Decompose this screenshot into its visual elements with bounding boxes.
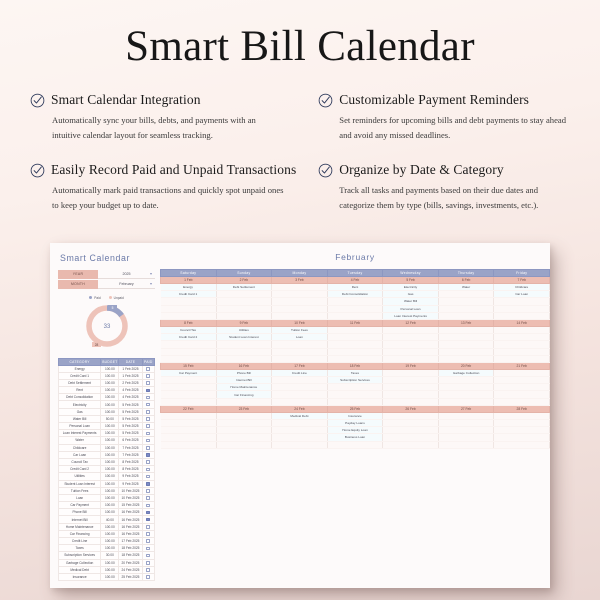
calendar-empty-cell[interactable]	[272, 384, 328, 391]
calendar-empty-cell[interactable]	[383, 420, 439, 427]
table-row[interactable]: Debt Settlement100.002 Feb 2025	[59, 379, 155, 386]
calendar-empty-cell[interactable]	[383, 326, 439, 333]
cell-date: 4 Feb 2025	[119, 387, 142, 394]
donut-legend: Paid Unpaid	[58, 296, 155, 300]
calendar-event-cell[interactable]: Garbage Collection	[438, 369, 494, 376]
checkbox-unchecked-icon[interactable]	[146, 410, 150, 414]
calendar-empty-cell[interactable]	[438, 298, 494, 305]
cell-paid[interactable]	[142, 451, 155, 458]
calendar-empty-cell[interactable]	[161, 420, 217, 427]
checkbox-unchecked-icon[interactable]	[146, 417, 150, 421]
calendar-date-cell[interactable]: 12 Feb	[383, 319, 439, 326]
calendar-empty-cell[interactable]	[272, 348, 328, 355]
calendar-date-cell[interactable]: 4 Feb	[327, 277, 383, 284]
calendar-empty-cell[interactable]	[494, 384, 550, 391]
calendar-date-cell[interactable]: 22 Feb	[161, 405, 217, 412]
cell-paid[interactable]	[142, 365, 155, 372]
calendar-empty-cell[interactable]	[161, 298, 217, 305]
calendar-empty-cell[interactable]	[383, 434, 439, 441]
cell-paid[interactable]	[142, 516, 155, 523]
calendar-empty-cell[interactable]	[327, 398, 383, 405]
table-row[interactable]: Car Payment100.0015 Feb 2025	[59, 502, 155, 509]
calendar-empty-cell[interactable]	[383, 427, 439, 434]
calendar-empty-cell[interactable]	[272, 305, 328, 312]
column-header-category[interactable]: CATEGORY	[59, 358, 101, 365]
calendar-event-cell[interactable]: Car Financing	[216, 391, 272, 398]
calendar-date-cell[interactable]: 11 Feb	[327, 319, 383, 326]
cell-paid[interactable]	[142, 473, 155, 480]
calendar-empty-cell[interactable]	[494, 341, 550, 348]
cell-paid[interactable]	[142, 494, 155, 501]
cell-paid[interactable]	[142, 458, 155, 465]
month-selector-value[interactable]: February	[98, 280, 155, 289]
cell-paid[interactable]	[142, 545, 155, 552]
year-selector-label: YEAR	[58, 270, 98, 279]
checkbox-unchecked-icon[interactable]	[146, 381, 150, 385]
calendar-empty-cell[interactable]	[383, 441, 439, 448]
table-row[interactable]: Car Loan100.007 Feb 2025	[59, 451, 155, 458]
cell-paid[interactable]	[142, 437, 155, 444]
calendar-date-cell[interactable]: 26 Feb	[383, 405, 439, 412]
table-row[interactable]: Debt Consolidation100.004 Feb 2025	[59, 394, 155, 401]
calendar-empty-cell[interactable]	[494, 348, 550, 355]
calendar-empty-cell[interactable]	[272, 398, 328, 405]
cell-paid[interactable]	[142, 444, 155, 451]
table-row[interactable]: Internet Bill40.0016 Feb 2025	[59, 516, 155, 523]
calendar-date-cell[interactable]: 7 Feb	[494, 277, 550, 284]
calendar-empty-cell[interactable]	[327, 441, 383, 448]
cell-paid[interactable]	[142, 502, 155, 509]
checkbox-checked-icon[interactable]	[146, 511, 150, 515]
cell-paid[interactable]	[142, 552, 155, 559]
checkbox-checked-icon[interactable]	[146, 453, 150, 457]
calendar-empty-cell[interactable]	[216, 434, 272, 441]
checkbox-unchecked-icon[interactable]	[146, 489, 150, 493]
calendar-empty-cell[interactable]	[494, 377, 550, 384]
calendar-event-cell[interactable]: Childcare	[494, 284, 550, 291]
checkbox-unchecked-icon[interactable]	[146, 439, 150, 443]
calendar-empty-cell[interactable]	[494, 334, 550, 341]
feature-item-customizable-payment-reminders: Customizable Payment Reminders Set remin…	[318, 92, 570, 143]
calendar-empty-cell[interactable]	[327, 312, 383, 319]
calendar-event-cell[interactable]: Council Tax	[161, 326, 217, 333]
calendar-event-cell[interactable]: Electricity	[383, 284, 439, 291]
legend-label-unpaid: Unpaid	[114, 296, 124, 300]
table-row[interactable]: Water Bill50.005 Feb 2025	[59, 415, 155, 422]
table-row[interactable]: Tuition Fees100.0010 Feb 2025	[59, 487, 155, 494]
calendar-date-cell[interactable]: 21 Feb	[494, 362, 550, 369]
calendar-event-cell[interactable]: Water	[438, 284, 494, 291]
checkbox-unchecked-icon[interactable]	[146, 475, 150, 479]
checkbox-unchecked-icon[interactable]	[146, 547, 150, 551]
cell-paid[interactable]	[142, 487, 155, 494]
cell-date: 5 Feb 2025	[119, 415, 142, 422]
cell-category: Tuition Fees	[59, 487, 101, 494]
calendar-event-cell[interactable]: Home Maintenance	[216, 384, 272, 391]
calendar-empty-cell[interactable]	[438, 355, 494, 362]
calendar-empty-cell[interactable]	[161, 391, 217, 398]
calendar-empty-cell[interactable]	[438, 334, 494, 341]
checkbox-unchecked-icon[interactable]	[146, 367, 150, 371]
calendar-empty-cell[interactable]	[161, 384, 217, 391]
table-row[interactable]: Home Maintenance100.0016 Feb 2025	[59, 523, 155, 530]
cell-budget: 100.00	[101, 538, 119, 545]
calendar-empty-cell[interactable]	[272, 341, 328, 348]
calendar-empty-cell[interactable]	[383, 391, 439, 398]
cell-budget: 100.00	[101, 430, 119, 437]
calendar-empty-cell[interactable]	[216, 427, 272, 434]
table-row[interactable]: Credit Line100.0017 Feb 2025	[59, 538, 155, 545]
calendar-empty-cell[interactable]	[327, 305, 383, 312]
feature-heading: Easily Record Paid and Unpaid Transactio…	[30, 162, 296, 178]
calendar-empty-cell[interactable]	[161, 377, 217, 384]
checkbox-unchecked-icon[interactable]	[146, 396, 150, 400]
calendar-empty-cell[interactable]	[161, 398, 217, 405]
cell-date: 4 Feb 2025	[119, 394, 142, 401]
calendar-empty-cell[interactable]	[216, 441, 272, 448]
calendar-empty-cell[interactable]	[438, 341, 494, 348]
checkbox-unchecked-icon[interactable]	[146, 496, 150, 500]
calendar-event-cell[interactable]: Internet Bill	[216, 377, 272, 384]
calendar-empty-cell[interactable]	[327, 384, 383, 391]
checkbox-unchecked-icon[interactable]	[146, 460, 150, 464]
calendar-empty-cell[interactable]	[438, 384, 494, 391]
calendar-empty-cell[interactable]	[216, 420, 272, 427]
calendar-date-cell[interactable]: 13 Feb	[438, 319, 494, 326]
calendar-empty-cell[interactable]	[494, 391, 550, 398]
calendar-empty-cell[interactable]	[383, 334, 439, 341]
calendar-empty-cell[interactable]	[161, 355, 217, 362]
calendar-event-cell[interactable]: Home Equity Loan	[327, 427, 383, 434]
calendar-empty-cell[interactable]	[494, 441, 550, 448]
calendar-date-cell[interactable]: 24 Feb	[272, 405, 328, 412]
calendar-empty-cell[interactable]	[272, 391, 328, 398]
calendar-header-row: Saturday Sunday Monday Tuesday Wednesday…	[161, 270, 550, 277]
table-row[interactable]: Loan100.0010 Feb 2025	[59, 494, 155, 501]
calendar-date-cell[interactable]: 27 Feb	[438, 405, 494, 412]
table-row[interactable]: Council Tax100.008 Feb 2025	[59, 458, 155, 465]
checkbox-unchecked-icon[interactable]	[146, 575, 150, 579]
calendar-date-cell[interactable]: 14 Feb	[494, 319, 550, 326]
calendar-date-cell[interactable]: 6 Feb	[438, 277, 494, 284]
calendar-date-cell[interactable]: 9 Feb	[216, 319, 272, 326]
calendar-date-cell[interactable]: 3 Feb	[272, 277, 328, 284]
calendar-empty-cell[interactable]	[494, 412, 550, 419]
calendar-event-cell[interactable]: Loan Interest Payments	[383, 312, 439, 319]
calendar-empty-cell[interactable]	[216, 398, 272, 405]
calendar-event-cell[interactable]: Energy	[161, 284, 217, 291]
calendar-empty-cell[interactable]	[272, 284, 328, 291]
calendar-date-cell[interactable]: 17 Feb	[272, 362, 328, 369]
calendar-empty-cell[interactable]	[383, 412, 439, 419]
cell-paid[interactable]	[142, 408, 155, 415]
table-row[interactable]: Insurance100.0025 Feb 2025	[59, 573, 155, 580]
table-row[interactable]: Phone Bill100.0016 Feb 2025	[59, 509, 155, 516]
calendar-empty-cell[interactable]	[494, 305, 550, 312]
cell-budget: 100.00	[101, 444, 119, 451]
feature-heading: Customizable Payment Reminders	[318, 92, 570, 108]
calendar-event-cell[interactable]: Tuition Fees	[272, 326, 328, 333]
calendar-empty-cell[interactable]	[161, 348, 217, 355]
table-row[interactable]: Garbage Collection100.0020 Feb 2025	[59, 559, 155, 566]
table-row[interactable]: Energy100.001 Feb 2025	[59, 365, 155, 372]
calendar-empty-cell[interactable]	[272, 427, 328, 434]
checkbox-unchecked-icon[interactable]	[146, 539, 150, 543]
calendar-event-row: Business Loan	[161, 434, 550, 441]
calendar-empty-cell[interactable]	[272, 291, 328, 298]
calendar-empty-cell[interactable]	[161, 341, 217, 348]
column-header-budget[interactable]: BUDGET	[101, 358, 119, 365]
calendar-empty-cell[interactable]	[161, 434, 217, 441]
table-row[interactable]: Credit Card 1100.001 Feb 2025	[59, 372, 155, 379]
cell-paid[interactable]	[142, 566, 155, 573]
calendar-event-cell[interactable]: Payday Loans	[327, 420, 383, 427]
column-header-paid[interactable]: PAID	[142, 358, 155, 365]
calendar-event-cell[interactable]: Gas	[383, 291, 439, 298]
calendar-empty-cell[interactable]	[438, 291, 494, 298]
calendar-empty-cell[interactable]	[161, 427, 217, 434]
cell-budget: 40.00	[101, 516, 119, 523]
calendar-empty-cell[interactable]	[438, 441, 494, 448]
cell-paid[interactable]	[142, 372, 155, 379]
table-row[interactable]: Water100.006 Feb 2025	[59, 437, 155, 444]
calendar-event-cell[interactable]: Phone Bill	[216, 369, 272, 376]
checkbox-unchecked-icon[interactable]	[146, 374, 150, 378]
calendar-empty-cell[interactable]	[272, 420, 328, 427]
calendar-event-cell[interactable]: Subscription Services	[327, 377, 383, 384]
calendar-empty-cell[interactable]	[438, 305, 494, 312]
cell-date: 20 Feb 2025	[119, 559, 142, 566]
feature-title: Customizable Payment Reminders	[339, 92, 529, 108]
calendar-date-cell[interactable]: 16 Feb	[216, 362, 272, 369]
calendar-empty-cell[interactable]	[327, 341, 383, 348]
calendar-date-cell[interactable]: 19 Feb	[383, 362, 439, 369]
checkbox-checked-icon[interactable]	[146, 482, 150, 486]
dashboard-sidebar: Smart Calendar YEAR 2025 MONTH February	[50, 243, 160, 588]
calendar-date-cell[interactable]: 5 Feb	[383, 277, 439, 284]
calendar-event-cell[interactable]: Loan	[272, 334, 328, 341]
spreadsheet-preview: Smart Calendar YEAR 2025 MONTH February	[50, 243, 550, 588]
calendar-date-cell[interactable]: 15 Feb	[161, 362, 217, 369]
checkbox-unchecked-icon[interactable]	[146, 468, 150, 472]
spreadsheet-window: Smart Calendar YEAR 2025 MONTH February	[50, 243, 550, 588]
cell-paid[interactable]	[142, 559, 155, 566]
cell-budget: 100.00	[101, 480, 119, 487]
calendar-empty-cell[interactable]	[494, 326, 550, 333]
calendar-empty-cell[interactable]	[327, 348, 383, 355]
calendar-date-cell[interactable]: 8 Feb	[161, 319, 217, 326]
calendar-empty-cell[interactable]	[438, 391, 494, 398]
calendar-empty-cell[interactable]	[216, 305, 272, 312]
cell-date: 16 Feb 2025	[119, 516, 142, 523]
calendar-empty-cell[interactable]	[216, 291, 272, 298]
calendar-empty-cell[interactable]	[438, 398, 494, 405]
calendar-event-cell[interactable]: Car Loan	[494, 291, 550, 298]
cell-paid[interactable]	[142, 466, 155, 473]
calendar-empty-cell[interactable]	[438, 326, 494, 333]
calendar-empty-cell[interactable]	[272, 434, 328, 441]
calendar-empty-cell[interactable]	[383, 348, 439, 355]
checkbox-unchecked-icon[interactable]	[146, 424, 150, 428]
checkbox-checked-icon[interactable]	[146, 518, 150, 522]
calendar-empty-cell[interactable]	[438, 434, 494, 441]
calendar-date-cell[interactable]: 25 Feb	[327, 405, 383, 412]
table-row[interactable]: Student Loan Interest100.009 Feb 2025	[59, 480, 155, 487]
cell-paid[interactable]	[142, 538, 155, 545]
calendar-empty-cell[interactable]	[438, 377, 494, 384]
calendar-empty-cell[interactable]	[216, 348, 272, 355]
calendar-empty-cell[interactable]	[494, 312, 550, 319]
calendar-empty-cell[interactable]	[161, 305, 217, 312]
cell-paid[interactable]	[142, 573, 155, 580]
cell-paid[interactable]	[142, 401, 155, 408]
calendar-empty-cell[interactable]	[272, 377, 328, 384]
year-selector-value[interactable]: 2025	[98, 270, 155, 279]
calendar-empty-cell[interactable]	[438, 348, 494, 355]
calendar-empty-cell[interactable]	[216, 312, 272, 319]
calendar-empty-cell[interactable]	[383, 377, 439, 384]
calendar-event-cell[interactable]: Credit Card 2	[161, 334, 217, 341]
cell-paid[interactable]	[142, 379, 155, 386]
calendar-date-cell[interactable]: 23 Feb	[216, 405, 272, 412]
calendar-empty-cell[interactable]	[216, 355, 272, 362]
app-brand-label: Smart Calendar	[60, 253, 155, 263]
checkbox-unchecked-icon[interactable]	[146, 525, 150, 529]
calendar-empty-cell[interactable]	[383, 369, 439, 376]
calendar-date-cell[interactable]: 2 Feb	[216, 277, 272, 284]
calendar-empty-cell[interactable]	[383, 341, 439, 348]
calendar-event-row: Car PaymentPhone BillCredit LineTaxesGar…	[161, 369, 550, 376]
calendar-empty-cell[interactable]	[161, 412, 217, 419]
month-selector[interactable]: MONTH February	[58, 280, 155, 289]
calendar-date-cell[interactable]: 10 Feb	[272, 319, 328, 326]
column-header-date[interactable]: DATE	[119, 358, 142, 365]
calendar-empty-cell[interactable]	[494, 355, 550, 362]
feature-title: Smart Calendar Integration	[51, 92, 201, 108]
calendar-empty-cell[interactable]	[383, 355, 439, 362]
cell-paid[interactable]	[142, 415, 155, 422]
calendar-empty-cell[interactable]	[383, 384, 439, 391]
cell-budget: 30.00	[101, 552, 119, 559]
calendar-empty-cell[interactable]	[327, 298, 383, 305]
checkbox-unchecked-icon[interactable]	[146, 403, 150, 407]
calendar-event-cell[interactable]: Utilities	[216, 326, 272, 333]
calendar-event-cell[interactable]: Personal Loan	[383, 305, 439, 312]
calendar-empty-cell[interactable]	[438, 412, 494, 419]
calendar-empty-cell[interactable]	[494, 369, 550, 376]
table-row[interactable]: Medical Debt100.0024 Feb 2025	[59, 566, 155, 573]
calendar-empty-cell[interactable]	[438, 312, 494, 319]
calendar-empty-cell[interactable]	[327, 355, 383, 362]
cell-paid[interactable]	[142, 394, 155, 401]
calendar-empty-cell[interactable]	[327, 334, 383, 341]
checkbox-unchecked-icon[interactable]	[146, 568, 150, 572]
checkbox-unchecked-icon[interactable]	[146, 504, 150, 508]
calendar-empty-cell[interactable]	[494, 427, 550, 434]
calendar-empty-cell[interactable]	[216, 341, 272, 348]
calendar-event-cell[interactable]: Credit Line	[272, 369, 328, 376]
cell-paid[interactable]	[142, 523, 155, 530]
calendar-empty-cell[interactable]	[272, 355, 328, 362]
table-row[interactable]: Electricity100.005 Feb 2025	[59, 401, 155, 408]
calendar-event-cell[interactable]: Taxes	[327, 369, 383, 376]
calendar-event-cell[interactable]: Insurance	[327, 412, 383, 419]
calendar-event-cell[interactable]: Water Bill	[383, 298, 439, 305]
checkbox-checked-icon[interactable]	[146, 389, 150, 393]
table-row[interactable]: Gas100.005 Feb 2025	[59, 408, 155, 415]
cell-paid[interactable]	[142, 387, 155, 394]
calendar-event-cell[interactable]: Student Loan Interest	[216, 334, 272, 341]
checkbox-unchecked-icon[interactable]	[146, 532, 150, 536]
cell-paid[interactable]	[142, 423, 155, 430]
table-row[interactable]: Credit Card 2100.008 Feb 2025	[59, 466, 155, 473]
cell-paid[interactable]	[142, 480, 155, 487]
calendar-date-cell[interactable]: 18 Feb	[327, 362, 383, 369]
calendar-event-cell[interactable]: Credit Card 1	[161, 291, 217, 298]
calendar-event-cell[interactable]: Business Loan	[327, 434, 383, 441]
calendar-empty-cell[interactable]	[327, 326, 383, 333]
check-circle-icon	[318, 163, 333, 178]
calendar-event-cell[interactable]: Rent	[327, 284, 383, 291]
calendar-empty-cell[interactable]	[272, 441, 328, 448]
calendar-empty-cell[interactable]	[216, 412, 272, 419]
checkbox-unchecked-icon[interactable]	[146, 561, 150, 565]
table-row[interactable]: Loan Interest Payments100.005 Feb 2025	[59, 430, 155, 437]
calendar-date-cell[interactable]: 28 Feb	[494, 405, 550, 412]
calendar-event-cell[interactable]: Debt Settlement	[216, 284, 272, 291]
cell-paid[interactable]	[142, 509, 155, 516]
cell-budget: 100.00	[101, 473, 119, 480]
calendar-empty-cell[interactable]	[272, 298, 328, 305]
calendar-empty-cell[interactable]	[383, 398, 439, 405]
calendar-empty-cell[interactable]	[438, 427, 494, 434]
calendar-empty-cell[interactable]	[161, 441, 217, 448]
calendar-empty-cell[interactable]	[494, 398, 550, 405]
calendar-empty-cell[interactable]	[161, 312, 217, 319]
calendar-event-row	[161, 398, 550, 405]
calendar-empty-cell[interactable]	[438, 420, 494, 427]
table-row[interactable]: Personal Loan100.005 Feb 2025	[59, 423, 155, 430]
table-row[interactable]: Rent100.004 Feb 2025	[59, 387, 155, 394]
calendar-panel: February Saturday Sunday Monday Tuesday …	[160, 243, 550, 588]
table-row[interactable]: Taxes100.0018 Feb 2025	[59, 545, 155, 552]
calendar-event-cell[interactable]: Debt Consolidation	[327, 291, 383, 298]
calendar-date-cell[interactable]: 20 Feb	[438, 362, 494, 369]
table-row[interactable]: Utilities100.009 Feb 2025	[59, 473, 155, 480]
calendar-event-cell[interactable]: Car Payment	[161, 369, 217, 376]
calendar-empty-cell[interactable]	[494, 298, 550, 305]
cell-date: 18 Feb 2025	[119, 552, 142, 559]
checkbox-unchecked-icon[interactable]	[146, 446, 150, 450]
year-selector[interactable]: YEAR 2025	[58, 270, 155, 279]
calendar-empty-cell[interactable]	[327, 391, 383, 398]
checkbox-unchecked-icon[interactable]	[146, 554, 150, 558]
cell-budget: 100.00	[101, 372, 119, 379]
checkbox-unchecked-icon[interactable]	[146, 432, 150, 436]
table-row[interactable]: Subscription Services30.0018 Feb 2025	[59, 552, 155, 559]
calendar-date-cell[interactable]: 1 Feb	[161, 277, 217, 284]
cell-paid[interactable]	[142, 530, 155, 537]
calendar-empty-cell[interactable]	[494, 434, 550, 441]
cell-paid[interactable]	[142, 430, 155, 437]
calendar-empty-cell[interactable]	[272, 312, 328, 319]
calendar-empty-cell[interactable]	[494, 420, 550, 427]
calendar-empty-cell[interactable]	[216, 298, 272, 305]
table-row[interactable]: Car Financing100.0016 Feb 2025	[59, 530, 155, 537]
table-row[interactable]: Childcare100.007 Feb 2025	[59, 444, 155, 451]
calendar-event-cell[interactable]: Medical Debt	[272, 412, 328, 419]
cell-budget: 100.00	[101, 494, 119, 501]
